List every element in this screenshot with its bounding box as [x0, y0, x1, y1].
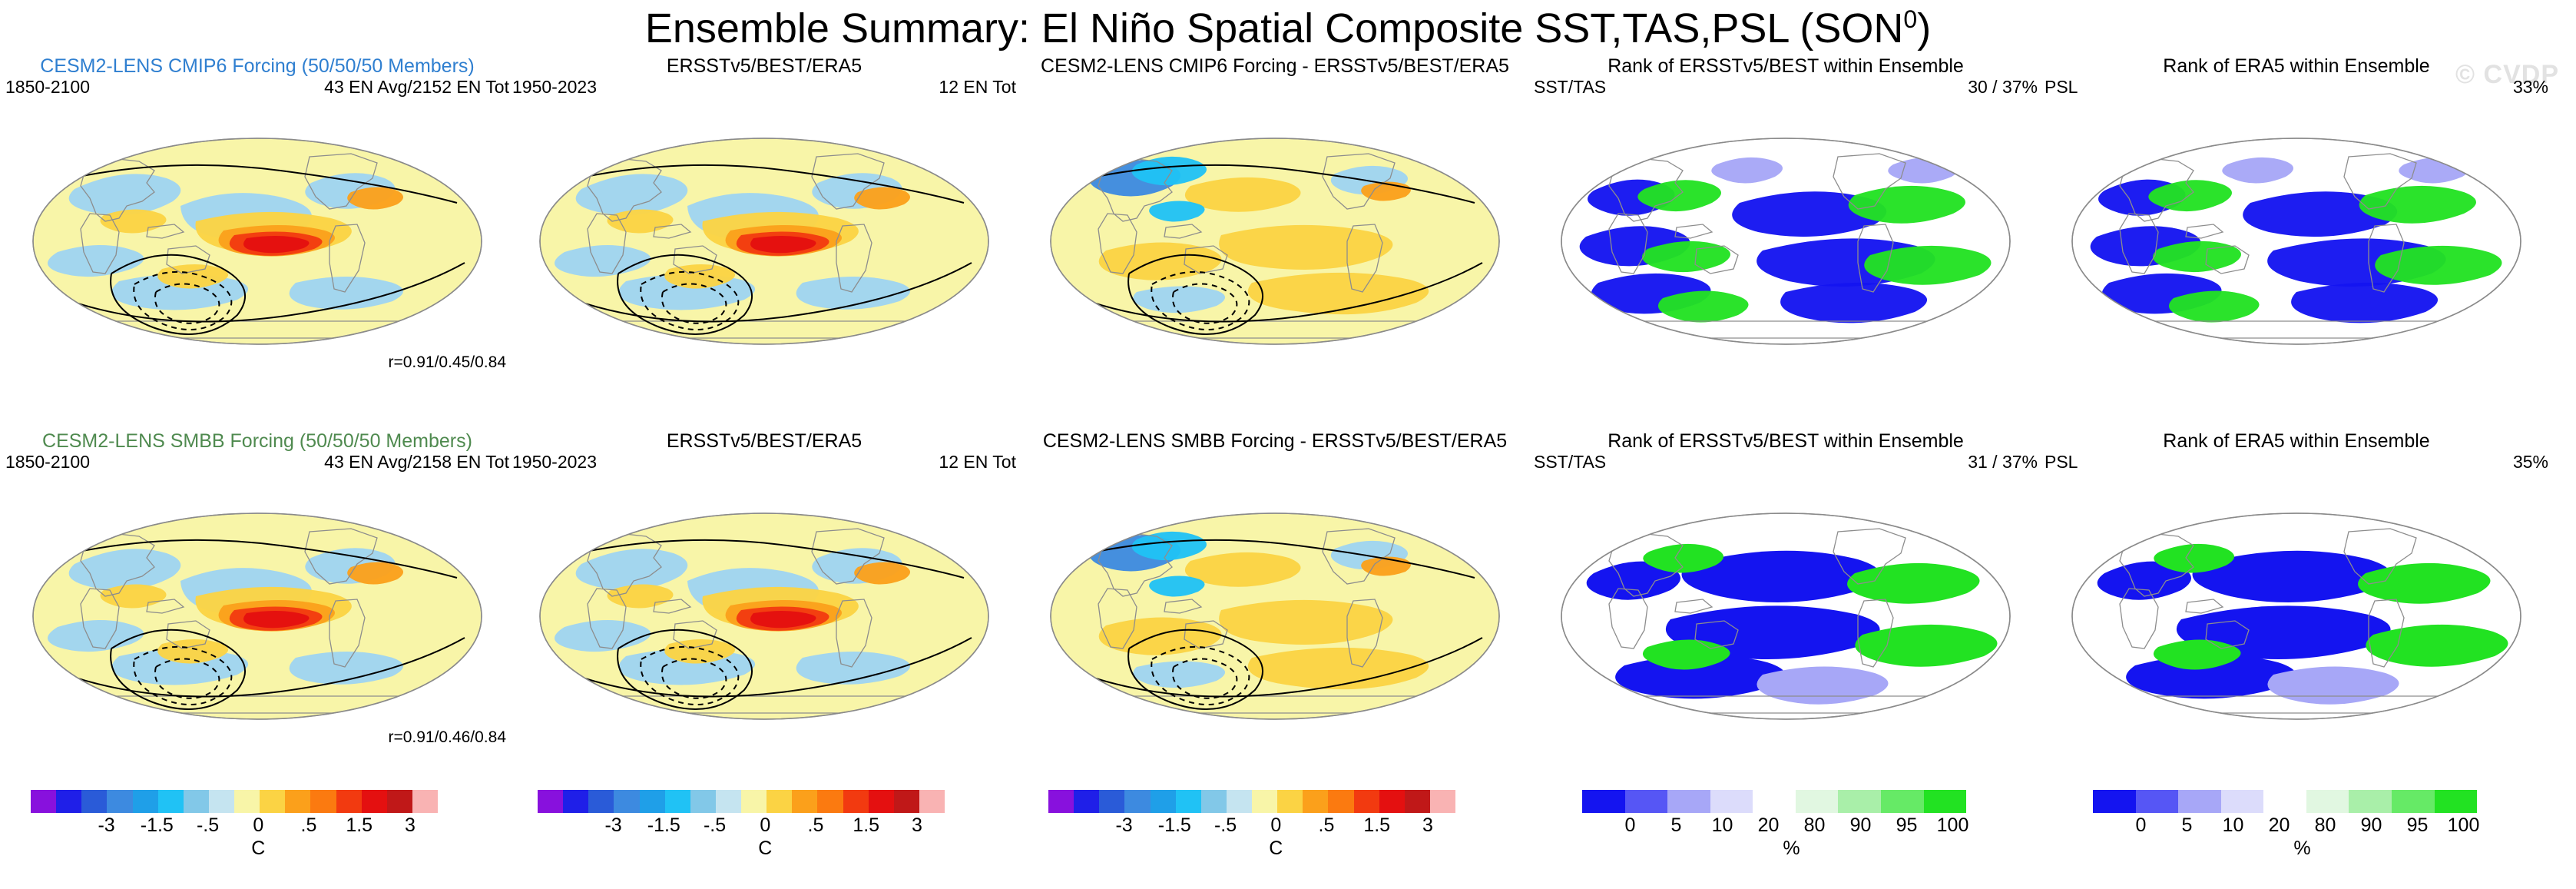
- colorbar-ticks: -3-1.5-.50.51.53: [538, 814, 945, 839]
- colorbar-tick-label: 5: [2182, 814, 2193, 837]
- colorbar-tick-label: 1.5: [346, 814, 372, 837]
- colorbar-segment: [133, 790, 158, 813]
- colorbar-segment: [792, 790, 817, 813]
- colorbar-segment: [1328, 790, 1353, 813]
- colorbar-segment: [1582, 790, 1625, 813]
- colorbar-segment: [588, 790, 614, 813]
- colorbar-tick-label: -1.5: [1158, 814, 1191, 837]
- colorbar-ticks: -3-1.5-.50.51.53: [1048, 814, 1455, 839]
- colorbar-segment: [1124, 790, 1150, 813]
- map-panel-r2c1: CESM2-LENS SMBB Forcing (50/50/50 Member…: [4, 430, 511, 745]
- colorbar-segment: [869, 790, 894, 813]
- colorbar-cb4: 051020809095100%: [1582, 790, 1966, 864]
- colorbar-cb3: -3-1.5-.50.51.53C: [1048, 790, 1455, 864]
- colorbar-tick-label: 3: [912, 814, 922, 837]
- map-projection-sst_difference: [1021, 466, 1528, 742]
- colorbar-tick-label: 3: [1422, 814, 1433, 837]
- colorbar-segment: [1710, 790, 1753, 813]
- colorbar-tick-label: 1.5: [1363, 814, 1390, 837]
- colorbar-segment: [2136, 790, 2179, 813]
- colorbar-unit-label: C: [251, 838, 265, 860]
- colorbar-segment: [310, 790, 336, 813]
- colorbar-tick-label: 1.5: [853, 814, 879, 837]
- colorbar-unit-label: %: [2293, 838, 2310, 860]
- colorbar-segment: [107, 790, 132, 813]
- map-panel-r2c2: ERSSTv5/BEST/ERA51950-202312 EN Tot: [511, 430, 1018, 745]
- map-panel-r2c3: CESM2-LENS SMBB Forcing - ERSSTv5/BEST/E…: [1021, 430, 1528, 745]
- panel-title: CESM2-LENS SMBB Forcing (50/50/50 Member…: [4, 430, 511, 453]
- colorbar-segment: [1838, 790, 1881, 813]
- map-panel-r1c5: Rank of ERA5 within EnsemblePSL33%: [2043, 55, 2550, 370]
- colorbar-segment: [640, 790, 665, 813]
- colorbar-segment: [56, 790, 81, 813]
- colorbar-gradient: [31, 790, 438, 813]
- colorbar-ticks: -3-1.5-.50.51.53: [31, 814, 438, 839]
- colorbar-tick-label: .5: [1319, 814, 1335, 837]
- colorbar-segment: [2263, 790, 2306, 813]
- colorbar-segment: [716, 790, 741, 813]
- colorbar-segment: [1924, 790, 1967, 813]
- colorbar-ticks: 051020809095100: [2093, 814, 2477, 839]
- colorbar-tick-label: -.5: [197, 814, 219, 837]
- colorbar-tick-label: 0: [2136, 814, 2147, 837]
- colorbar-tick-label: -.5: [704, 814, 726, 837]
- colorbar-segment: [1753, 790, 1796, 813]
- colorbar-tick-label: 0: [1625, 814, 1636, 837]
- map-projection-sst_anomaly: [4, 466, 511, 742]
- colorbar-tick-label: 80: [2315, 814, 2336, 837]
- colorbar-segment: [843, 790, 869, 813]
- colorbar-tick-label: 95: [1896, 814, 1918, 837]
- colorbar-segment: [1277, 790, 1303, 813]
- colorbar-tick-label: 0: [760, 814, 770, 837]
- panel-title: ERSSTv5/BEST/ERA5: [511, 430, 1018, 453]
- page-title-superscript: 0: [1903, 5, 1917, 33]
- colorbar-segment: [1151, 790, 1176, 813]
- colorbar-gradient: [538, 790, 945, 813]
- colorbar-tick-label: -.5: [1214, 814, 1237, 837]
- colorbar-cb1: -3-1.5-.50.51.53C: [31, 790, 438, 864]
- colorbar-segment: [919, 790, 945, 813]
- colorbar-segment: [1303, 790, 1328, 813]
- colorbar-segment: [665, 790, 690, 813]
- map-projection-rank: [1532, 91, 2039, 367]
- colorbar-segment: [894, 790, 919, 813]
- map-panel-r1c1: CESM2-LENS CMIP6 Forcing (50/50/50 Membe…: [4, 55, 511, 370]
- map-projection-sst_difference: [1021, 91, 1528, 367]
- colorbar-segment: [1099, 790, 1124, 813]
- colorbar-tick-label: 0: [1270, 814, 1281, 837]
- colorbar-tick-label: 3: [405, 814, 416, 837]
- colorbar-gradient: [1582, 790, 1966, 813]
- colorbar-segment: [1227, 790, 1252, 813]
- colorbar-unit-label: C: [1269, 838, 1283, 860]
- colorbar-segment: [1354, 790, 1379, 813]
- colorbar-segment: [1048, 790, 1074, 813]
- colorbar-segment: [538, 790, 563, 813]
- colorbar-segment: [362, 790, 387, 813]
- panel-title: Rank of ERA5 within Ensemble: [2043, 55, 2550, 78]
- panel-title: CESM2-LENS CMIP6 Forcing - ERSSTv5/BEST/…: [1021, 55, 1528, 78]
- colorbar-gradient: [2093, 790, 2477, 813]
- colorbar-tick-label: -1.5: [141, 814, 174, 837]
- colorbar-tick-label: -3: [98, 814, 114, 837]
- colorbar-tick-label: 10: [2223, 814, 2244, 837]
- colorbar-tick-label: .5: [301, 814, 317, 837]
- colorbar-segment: [336, 790, 362, 813]
- colorbar-tick-label: 20: [2269, 814, 2290, 837]
- colorbar-segment: [387, 790, 412, 813]
- colorbar-segment: [1201, 790, 1227, 813]
- colorbar-tick-label: -3: [1115, 814, 1132, 837]
- colorbar-unit-label: C: [758, 838, 772, 860]
- map-projection-sst_anomaly: [511, 91, 1018, 367]
- colorbar-tick-label: 5: [1671, 814, 1682, 837]
- colorbar-segment: [817, 790, 843, 813]
- colorbar-segment: [741, 790, 767, 813]
- colorbar-segment: [1667, 790, 1710, 813]
- colorbar-segment: [1405, 790, 1430, 813]
- colorbar-tick-label: .5: [808, 814, 824, 837]
- colorbar-tick-label: 95: [2407, 814, 2429, 837]
- colorbar-segment: [1252, 790, 1277, 813]
- colorbar-segment: [1379, 790, 1405, 813]
- map-panel-r2c4: Rank of ERSSTv5/BEST within EnsembleSST/…: [1532, 430, 2039, 745]
- colorbar-segment: [2178, 790, 2221, 813]
- colorbar-tick-label: 0: [253, 814, 263, 837]
- colorbar-cb2: -3-1.5-.50.51.53C: [538, 790, 945, 864]
- colorbar-segment: [1881, 790, 1924, 813]
- colorbar-segment: [1430, 790, 1455, 813]
- colorbar-ticks: 051020809095100: [1582, 814, 1966, 839]
- colorbar-tick-label: -3: [604, 814, 621, 837]
- colorbar-segment: [1796, 790, 1839, 813]
- colorbar-tick-label: 90: [1850, 814, 1872, 837]
- colorbar-unit-label: %: [1783, 838, 1800, 860]
- page-title-text: Ensemble Summary: El Niño Spatial Compos…: [645, 5, 1904, 51]
- colorbar-segment: [767, 790, 792, 813]
- colorbar-gradient: [1048, 790, 1455, 813]
- colorbar-segment: [2306, 790, 2349, 813]
- colorbar-segment: [1176, 790, 1201, 813]
- colorbar-segment: [614, 790, 639, 813]
- panel-title: Rank of ERSSTv5/BEST within Ensemble: [1532, 430, 2039, 453]
- colorbar-segment: [234, 790, 260, 813]
- map-panel-r1c2: ERSSTv5/BEST/ERA51950-202312 EN Tot: [511, 55, 1018, 370]
- map-projection-rank: [2043, 91, 2550, 367]
- colorbar-segment: [260, 790, 285, 813]
- map-panel-r2c5: Rank of ERA5 within EnsemblePSL35%: [2043, 430, 2550, 745]
- colorbar-segment: [2093, 790, 2136, 813]
- colorbar-tick-label: 100: [2448, 814, 2480, 837]
- colorbar-segment: [1625, 790, 1668, 813]
- colorbar-segment: [2349, 790, 2392, 813]
- colorbar-segment: [2435, 790, 2478, 813]
- colorbar-segment: [209, 790, 234, 813]
- colorbar-segment: [2392, 790, 2435, 813]
- colorbar-segment: [690, 790, 716, 813]
- colorbar-tick-label: 90: [2361, 814, 2382, 837]
- colorbar-segment: [31, 790, 56, 813]
- colorbar-segment: [1074, 790, 1099, 813]
- colorbar-tick-label: 10: [1712, 814, 1733, 837]
- colorbar-tick-label: 20: [1758, 814, 1780, 837]
- colorbar-segment: [81, 790, 107, 813]
- colorbar-cb5: 051020809095100%: [2093, 790, 2477, 864]
- page-title: Ensemble Summary: El Niño Spatial Compos…: [0, 5, 2576, 52]
- colorbar-segment: [158, 790, 184, 813]
- colorbar-segment: [412, 790, 438, 813]
- colorbar-tick-label: 100: [1937, 814, 1969, 837]
- map-projection-sst_anomaly: [4, 91, 511, 367]
- colorbar-tick-label: 80: [1804, 814, 1826, 837]
- map-projection-sst_anomaly: [511, 466, 1018, 742]
- panel-title: Rank of ERA5 within Ensemble: [2043, 430, 2550, 453]
- map-projection-rank: [2043, 466, 2550, 742]
- panel-title: CESM2-LENS SMBB Forcing - ERSSTv5/BEST/E…: [1021, 430, 1528, 453]
- colorbar-tick-label: -1.5: [647, 814, 680, 837]
- panel-title: Rank of ERSSTv5/BEST within Ensemble: [1532, 55, 2039, 78]
- colorbar-segment: [285, 790, 310, 813]
- colorbar-segment: [2221, 790, 2264, 813]
- panel-title: ERSSTv5/BEST/ERA5: [511, 55, 1018, 78]
- page-title-closing: ): [1917, 5, 1931, 51]
- map-panel-r1c4: Rank of ERSSTv5/BEST within EnsembleSST/…: [1532, 55, 2039, 370]
- colorbar-segment: [184, 790, 209, 813]
- map-panel-r1c3: CESM2-LENS CMIP6 Forcing - ERSSTv5/BEST/…: [1021, 55, 1528, 370]
- panel-title: CESM2-LENS CMIP6 Forcing (50/50/50 Membe…: [4, 55, 511, 78]
- map-projection-rank: [1532, 466, 2039, 742]
- colorbar-segment: [563, 790, 588, 813]
